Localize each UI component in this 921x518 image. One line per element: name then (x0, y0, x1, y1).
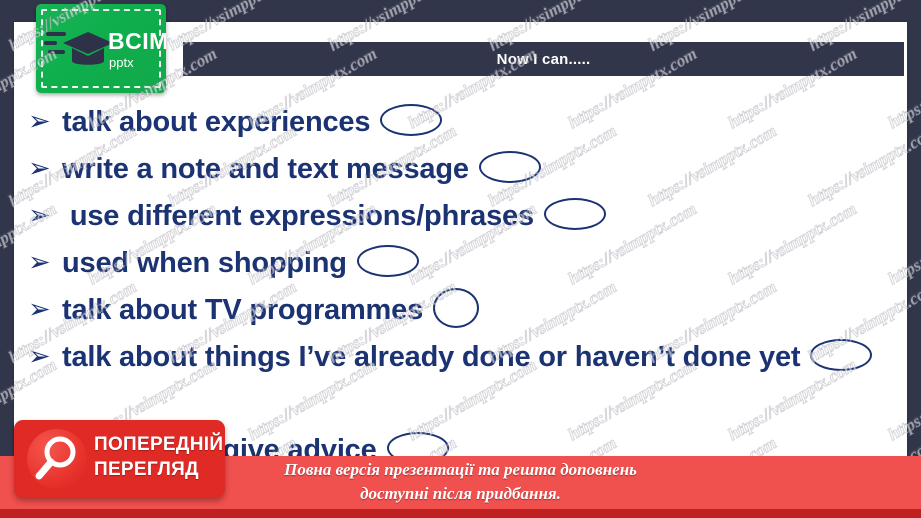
bullet-arrow-icon: ➢ (28, 147, 62, 191)
bullet-arrow-icon: ➢ (28, 288, 62, 332)
bullet-text: talk about TV programmes (62, 294, 423, 326)
answer-ellipse (479, 151, 541, 183)
logo-brand-name: BCIM (108, 30, 166, 53)
answer-ellipse (544, 198, 606, 230)
bullet-row: ➢write a note and text message (28, 147, 908, 193)
graduation-cap-icon (62, 30, 114, 70)
bullet-row: ➢talk about TV programmes (28, 288, 908, 334)
bullet-text: write a note and text message (62, 153, 469, 185)
bullet-arrow-icon: ➢ (28, 335, 62, 379)
bullet-body: use different expressions/phrases (62, 194, 908, 238)
bullet-body: talk about experiences (62, 100, 908, 144)
answer-ellipse (433, 288, 479, 328)
bullet-body: talk about TV programmes (62, 288, 908, 332)
bullet-row: ➢talk about experiences (28, 100, 908, 146)
bullet-text: talk about things I’ve already done or h… (62, 341, 800, 373)
bullet-arrow-icon: ➢ (28, 194, 62, 238)
banner-band-dark (0, 509, 921, 518)
badge-label: ПОПЕРЕДНІЙ ПЕРЕГЛЯД (94, 432, 220, 482)
bullet-text: talk about experiences (62, 106, 370, 138)
logo-brand-sub: pptx (109, 56, 166, 69)
bullet-row: ➢ use different expressions/phrases (28, 194, 908, 240)
bullet-body: used when shopping (62, 241, 908, 285)
bullet-text: used when shopping (62, 247, 347, 279)
bullet-body: write a note and text message (62, 147, 908, 191)
slide-title: Now I can..... (497, 51, 591, 68)
bullet-list: ➢talk about experiences➢write a note and… (28, 100, 908, 475)
bullet-row: ➢talk about things I’ve already done or … (28, 335, 908, 427)
bullet-text: use different expressions/phrases (62, 200, 534, 232)
logo-brand: BCIM pptx (108, 30, 166, 69)
bullet-body: talk about things I’ve already done or h… (62, 335, 908, 379)
badge-line-2: ПЕРЕГЛЯД (94, 457, 220, 482)
slide-title-bar: Now I can..... (183, 42, 904, 76)
slide-root: Now I can..... BCIM pptx ➢talk about exp… (0, 0, 921, 518)
magnifier-icon (27, 429, 87, 489)
badge-line-1: ПОПЕРЕДНІЙ (94, 432, 220, 457)
bullet-arrow-icon: ➢ (28, 241, 62, 285)
bcim-logo: BCIM pptx (36, 4, 166, 93)
answer-ellipse (380, 104, 442, 136)
preview-badge: ПОПЕРЕДНІЙ ПЕРЕГЛЯД (14, 420, 225, 498)
answer-ellipse (810, 339, 872, 371)
bullet-row: ➢used when shopping (28, 241, 908, 287)
answer-ellipse (357, 245, 419, 277)
bullet-arrow-icon: ➢ (28, 100, 62, 144)
